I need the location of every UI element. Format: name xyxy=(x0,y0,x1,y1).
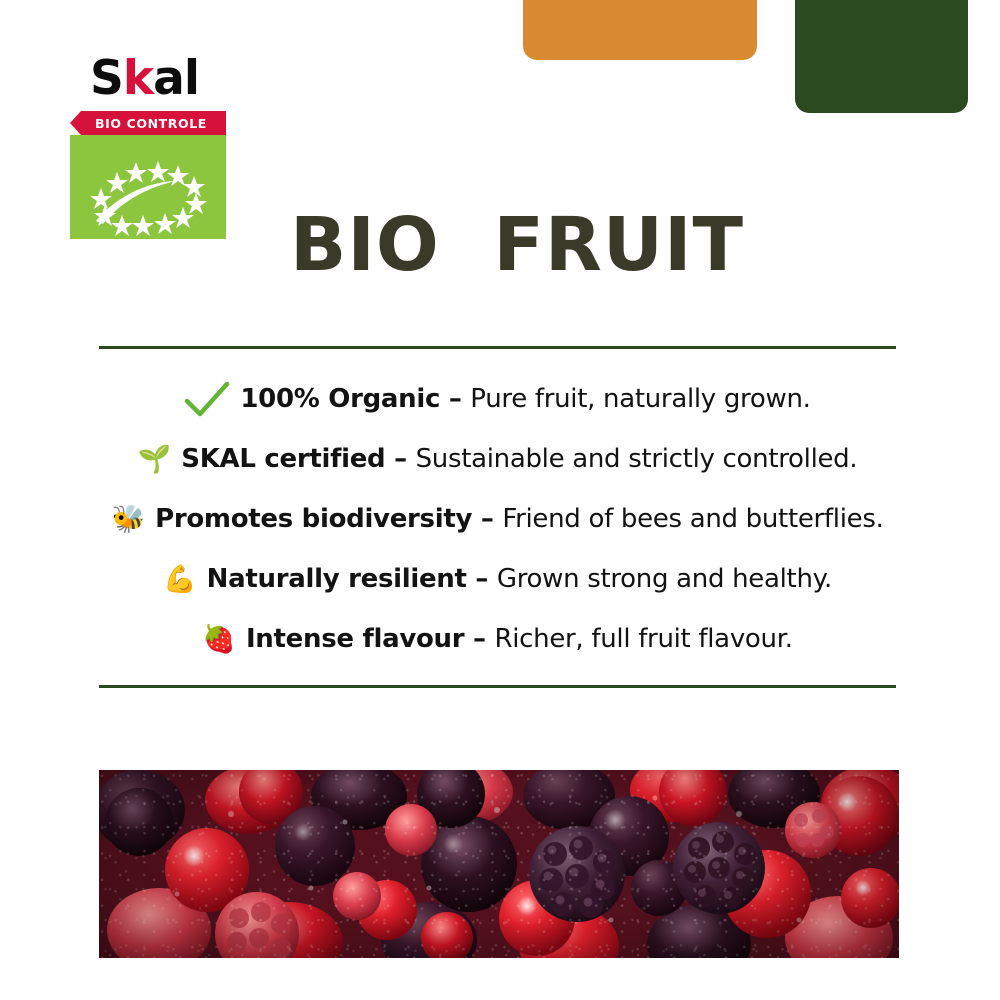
feature-list: 100% Organic – Pure fruit, naturally gro… xyxy=(99,346,896,688)
feature-body: Grown strong and healthy. xyxy=(497,564,832,594)
check-icon xyxy=(184,381,230,417)
feature-item-resilient-text: Naturally resilient – Grown strong and h… xyxy=(207,564,832,594)
seedling-icon: 🌱 xyxy=(138,446,172,473)
feature-lead: 100% Organic – xyxy=(240,384,470,414)
feature-lead: Intense flavour – xyxy=(246,624,495,654)
skal-bio-controle-logo: Skal BIO CONTROLE xyxy=(70,55,226,239)
skal-wordmark-s: S xyxy=(90,51,123,106)
feature-item-biodiversity: 🐝 Promotes biodiversity – Friend of bees… xyxy=(99,489,896,549)
bee-icon: 🐝 xyxy=(111,506,145,533)
feature-item-resilient: 💪 Naturally resilient – Grown strong and… xyxy=(99,549,896,609)
feature-lead: Promotes biodiversity – xyxy=(155,504,502,534)
strawberry-icon: 🍓 xyxy=(202,626,236,653)
feature-body: Sustainable and strictly controlled. xyxy=(416,444,858,474)
eu-organic-leaf-icon xyxy=(70,135,226,239)
flexed-biceps-icon: 💪 xyxy=(163,566,197,593)
feature-lead: Naturally resilient – xyxy=(207,564,497,594)
skal-wordmark-al: al xyxy=(153,51,199,106)
page-title: BIO FRUIT xyxy=(290,208,744,282)
feature-item-organic: 100% Organic – Pure fruit, naturally gro… xyxy=(99,369,896,429)
feature-item-flavour-text: Intense flavour – Richer, full fruit fla… xyxy=(246,624,793,654)
orange-accent-block xyxy=(523,0,757,60)
green-accent-block xyxy=(795,0,968,113)
feature-body: Pure fruit, naturally grown. xyxy=(470,384,810,414)
feature-item-flavour: 🍓 Intense flavour – Richer, full fruit f… xyxy=(99,609,896,669)
bio-controle-banner: BIO CONTROLE xyxy=(70,111,226,135)
feature-lead: SKAL certified – xyxy=(181,444,415,474)
feature-item-organic-text: 100% Organic – Pure fruit, naturally gro… xyxy=(240,384,810,414)
frozen-mixed-berries-photo xyxy=(99,770,899,958)
feature-body: Friend of bees and butterflies. xyxy=(502,504,883,534)
feature-item-biodiversity-text: Promotes biodiversity – Friend of bees a… xyxy=(155,504,883,534)
feature-item-skal-text: SKAL certified – Sustainable and strictl… xyxy=(181,444,857,474)
divider-top xyxy=(99,346,896,349)
bio-controle-banner-label: BIO CONTROLE xyxy=(95,116,207,131)
skal-wordmark: Skal xyxy=(90,55,226,102)
feature-item-skal: 🌱 SKAL certified – Sustainable and stric… xyxy=(99,429,896,489)
skal-wordmark-k: k xyxy=(123,51,153,106)
divider-bottom xyxy=(99,685,896,688)
feature-body: Richer, full fruit flavour. xyxy=(494,624,792,654)
